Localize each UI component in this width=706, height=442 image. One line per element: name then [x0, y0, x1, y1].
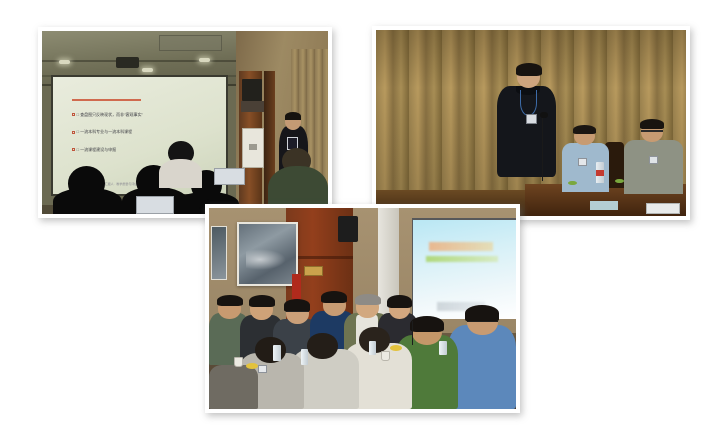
photo-round-table: Round-table discussion in a seminar room… — [205, 204, 520, 413]
participant-hair — [321, 291, 347, 303]
ceiling-light — [199, 58, 210, 62]
audience-body — [159, 159, 202, 188]
laptop — [136, 196, 173, 214]
water-bottle — [369, 341, 376, 355]
attendee-badge — [578, 158, 587, 165]
attendee-hair — [573, 125, 596, 134]
glasses-icon — [467, 321, 498, 323]
handout — [590, 201, 618, 210]
photo-collage: □ 查盘图只反映现状，而非“客观事实” □ 一流本科专业与一流本科课程 □ 一流… — [0, 0, 706, 442]
microphone-stand — [412, 321, 413, 345]
photo-round-table-image: Round-table discussion in a seminar room… — [209, 208, 516, 409]
wall-plaque — [304, 266, 322, 276]
participant-hair — [387, 295, 412, 308]
speaker-lanyard — [520, 90, 537, 116]
participant-head — [255, 337, 286, 363]
water-bottle — [301, 349, 308, 365]
participant-body-back — [209, 365, 258, 409]
fruit — [246, 363, 258, 369]
ceiling-projector — [116, 57, 139, 68]
participant-hair — [217, 295, 243, 306]
water-bottle — [596, 162, 604, 182]
glasses-icon — [641, 130, 663, 132]
presenter-hair — [285, 112, 301, 120]
participant-body-back — [448, 325, 516, 409]
fruit — [390, 345, 402, 351]
wall-speaker — [338, 216, 358, 242]
photo-speaker-curtain: Speaker standing at a microphone in fron… — [372, 26, 690, 220]
framed-painting-small — [211, 226, 228, 280]
participant-head — [307, 333, 338, 359]
attendee-badge — [649, 156, 658, 163]
participant-hair — [410, 316, 444, 332]
participant-badge — [258, 365, 267, 373]
photo-lecture-hall-image: □ 查盘图只反映现状，而非“客观事实” □ 一流本科专业与一流本科课程 □ 一流… — [42, 31, 328, 214]
wall-speaker — [242, 79, 262, 101]
water-bottle — [273, 345, 280, 361]
paper-cup — [234, 357, 243, 367]
slide-bullet-1: □ 查盘图只反映现状，而非“客观事实” — [72, 112, 143, 117]
wall-speaker-base — [241, 101, 264, 112]
audience-body — [53, 188, 122, 214]
handout — [646, 203, 680, 214]
glasses-icon — [286, 311, 309, 313]
speaker-hair — [516, 63, 542, 75]
ceiling-light — [142, 68, 153, 72]
slide-rule — [72, 99, 141, 101]
slide-bullet-2-text: □ 一流本科专业与一流本科课程 — [77, 129, 133, 134]
water-bottle — [439, 341, 446, 355]
slide-bullet-3-text: □ 一流课程建设与申报 — [77, 147, 117, 152]
ceiling-panel — [159, 35, 222, 51]
photo-lecture-hall: □ 查盘图只反映现状，而非“客观事实” □ 一流本科专业与一流本科课程 □ 一流… — [38, 27, 332, 218]
slide-title — [429, 242, 493, 251]
paper-cup — [381, 351, 390, 361]
projection-screen — [412, 218, 516, 319]
checkbox-icon — [72, 113, 75, 116]
slide-bullet-1-text: □ 查盘图只反映现状，而非“客观事实” — [77, 112, 143, 117]
participant-hair — [355, 294, 381, 305]
photo-speaker-curtain-image: Speaker standing at a microphone in fron… — [376, 30, 686, 216]
laptop — [214, 168, 245, 184]
checkbox-icon — [72, 131, 75, 134]
participant-hair — [465, 305, 499, 321]
slide-subtitle — [426, 256, 498, 263]
microphone-icon — [540, 112, 548, 119]
checkbox-icon — [72, 148, 75, 151]
speaker-badge — [526, 114, 537, 124]
participant-hair — [249, 295, 275, 307]
attendee-body — [624, 140, 683, 194]
microphone-stand — [542, 116, 543, 181]
slide-bullet-3: □ 一流课程建设与申报 — [72, 147, 117, 152]
ceiling-light — [59, 60, 70, 64]
wall-notice-board — [242, 128, 263, 168]
slide-bullet-2: □ 一流本科专业与一流本科课程 — [72, 129, 133, 134]
attendee-hair — [640, 119, 665, 129]
framed-painting — [237, 222, 298, 286]
